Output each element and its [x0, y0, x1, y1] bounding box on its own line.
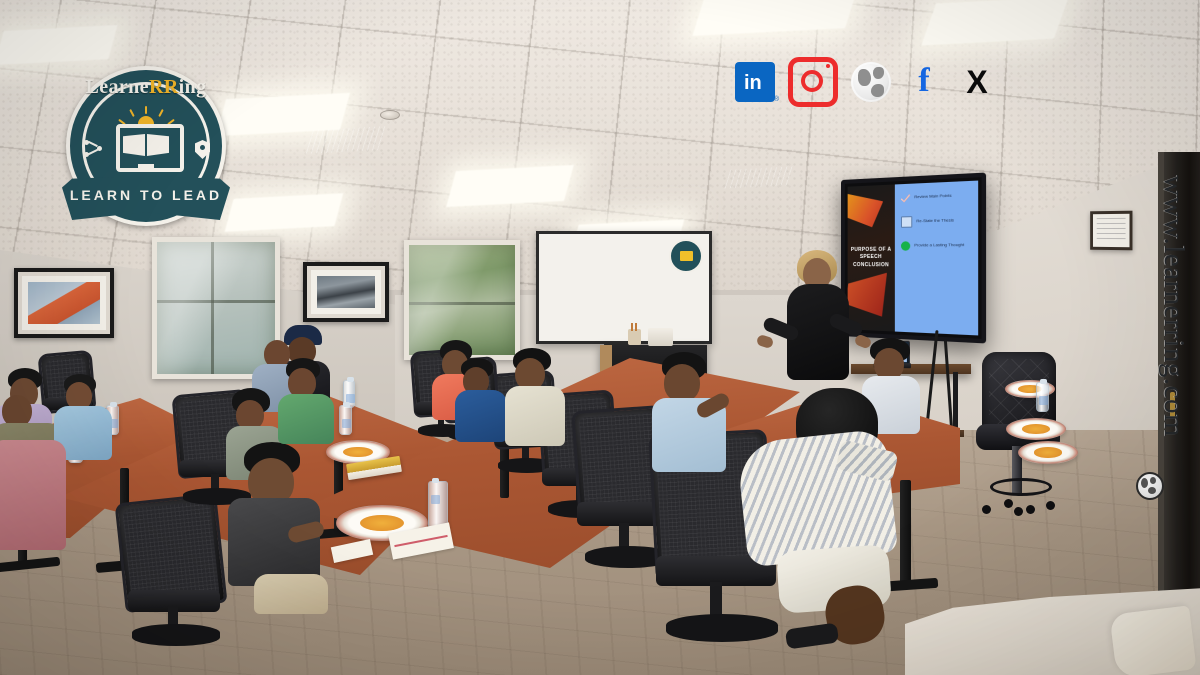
- facebook-icon[interactable]: f: [904, 62, 944, 102]
- drape-fold: [1109, 605, 1196, 675]
- social-icon-bar: in ® f X: [735, 57, 997, 107]
- student-body: [0, 440, 66, 550]
- open-book-icon: [147, 134, 169, 156]
- framed-photo-osprey: [303, 262, 389, 322]
- instagram-lens: [801, 70, 823, 92]
- ceiling-air-vent: [306, 126, 389, 154]
- student-body: [228, 498, 320, 586]
- paper-plate: [1018, 441, 1078, 464]
- certificate-text-lines: [1097, 218, 1126, 243]
- globe-landmass: [871, 84, 884, 97]
- water-bottle[interactable]: [1036, 382, 1049, 412]
- student: [0, 440, 70, 550]
- led-panel-light: [225, 193, 344, 232]
- led-panel-light: [921, 0, 1068, 45]
- window-glare: [409, 245, 515, 355]
- x-twitter-icon[interactable]: X: [957, 62, 997, 102]
- slide-bullet: Provide a Lasting Thought: [901, 241, 973, 251]
- sun-ray: [145, 106, 147, 114]
- website-url[interactable]: www.learnerring.com: [1157, 175, 1190, 437]
- brand-logo: LearneRRing LEARN TO LEAD: [66, 66, 226, 226]
- check-mark-icon: [901, 193, 910, 203]
- student: [505, 348, 569, 446]
- green-dot-icon: [901, 241, 910, 250]
- registered-mark: ®: [774, 96, 779, 103]
- helicopter-photo: [28, 282, 100, 324]
- globe-icon: [1136, 472, 1164, 500]
- student-body: [278, 394, 334, 444]
- document-icon: [901, 216, 912, 228]
- paper-plate: [1006, 418, 1066, 440]
- ceiling-air-vent: [724, 166, 793, 188]
- monitor-foot: [128, 168, 164, 172]
- slide-bullet: Re-State the Thesis: [901, 215, 973, 228]
- water-bottle[interactable]: [339, 405, 352, 435]
- event-photo-canvas: PURPOSE OF A SPEECH CONCLUSION Review Ma…: [0, 0, 1200, 675]
- x-label: X: [966, 64, 987, 100]
- task-chair[interactable]: [120, 498, 230, 648]
- sun-ray: [129, 109, 135, 117]
- student-body: [505, 386, 565, 446]
- slide-bullet-panel: Review Main Points Re-State the Thesis P…: [895, 181, 978, 336]
- student: [278, 358, 338, 444]
- presenter: [775, 250, 865, 400]
- slide-bullet: Review Main Points: [901, 191, 973, 203]
- pencil-cup: [628, 329, 641, 345]
- globe-landmass: [873, 67, 884, 79]
- whiteboard-logo-badge: [669, 239, 703, 273]
- logo-tagline: LEARN TO LEAD: [70, 187, 222, 203]
- student-shorts: [254, 574, 328, 614]
- tissue-box: [648, 328, 673, 346]
- whiteboard: [536, 231, 712, 344]
- water-bottle[interactable]: [428, 481, 448, 529]
- student-body: [455, 390, 507, 442]
- chair-base: [982, 492, 1058, 514]
- smoke-detector-icon: [380, 110, 400, 120]
- led-panel-light: [446, 165, 574, 207]
- slide-graphic: [848, 191, 884, 250]
- network-node-icon: [84, 140, 102, 158]
- globe-icon[interactable]: [851, 62, 891, 102]
- linkedin-label: in: [744, 73, 762, 93]
- framed-certificate: [1090, 211, 1132, 251]
- instagram-dot: [826, 64, 830, 68]
- instagram-icon[interactable]: [788, 57, 838, 107]
- logo-wordmark: LearneRRing: [66, 76, 226, 99]
- slide-bullet-text: Provide a Lasting Thought: [914, 243, 964, 248]
- logo-emblem: [112, 110, 180, 172]
- open-book-icon: [123, 134, 145, 156]
- adult-shoe: [785, 622, 839, 649]
- logo-name-prefix: Learne: [85, 76, 149, 98]
- sun-ray: [158, 109, 164, 117]
- chair-base: [132, 624, 220, 646]
- snack-food: [360, 515, 403, 531]
- led-panel-light: [0, 25, 118, 65]
- osprey-photo: [317, 276, 375, 308]
- framed-photo-helicopter: [14, 268, 114, 338]
- globe-landmass: [858, 69, 871, 86]
- slide-bullet-text: Review Main Points: [914, 194, 951, 200]
- student: [652, 352, 732, 472]
- logo-name-suffix: ing: [179, 76, 207, 98]
- logo-book-icon: [680, 251, 693, 261]
- student-head: [664, 364, 700, 402]
- student: [228, 442, 328, 612]
- slide-bullet-text: Re-State the Thesis: [916, 219, 954, 225]
- tv-screen: PURPOSE OF A SPEECH CONCLUSION Review Ma…: [848, 181, 979, 336]
- adult-attendee: [742, 388, 922, 658]
- linkedin-icon[interactable]: in ®: [735, 62, 775, 102]
- logo-name-accent: RR: [149, 76, 179, 98]
- executive-chair[interactable]: [976, 352, 1062, 527]
- student: [455, 358, 511, 442]
